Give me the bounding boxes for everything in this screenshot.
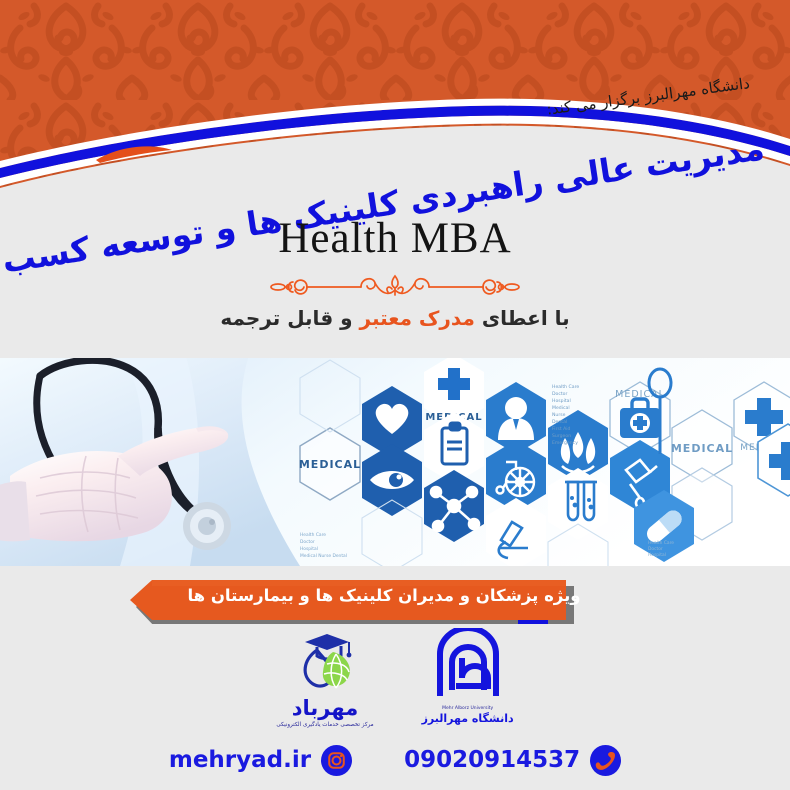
graduation-cap-leaf-globe-icon bbox=[279, 628, 371, 690]
website-text[interactable]: mehryad.ir bbox=[169, 747, 311, 773]
mehralborz-logo-subtitle: Mehr Alborz University bbox=[422, 706, 514, 711]
footer: mehryad.ir 09020914537 bbox=[0, 740, 790, 780]
subtitle-highlight: مدرک معتبر bbox=[360, 306, 475, 330]
svg-text:Surgeon: Surgeon bbox=[552, 433, 571, 439]
svg-text:Medical Nurse Dental: Medical Nurse Dental bbox=[300, 553, 347, 559]
mehralborz-logo-name: دانشگاه مهرالبرز bbox=[422, 712, 514, 725]
svg-text:MEDICAL: MEDICAL bbox=[299, 458, 361, 471]
website-item[interactable]: mehryad.ir bbox=[169, 745, 352, 776]
mehryad-logo-subtitle: مرکز تخصصی خدمات یادگیری الکترونیکی bbox=[276, 722, 373, 728]
hero-image: MEDICAL MEDICAL bbox=[0, 358, 790, 566]
svg-text:Health Care: Health Care bbox=[648, 540, 674, 546]
instagram-icon[interactable] bbox=[321, 745, 352, 776]
svg-text:Doctor: Doctor bbox=[552, 391, 567, 397]
ribbon-shape bbox=[0, 576, 790, 624]
subtitle-after: و قابل ترجمه bbox=[220, 306, 359, 330]
mehryad-logo-name: مهرباد bbox=[276, 696, 373, 720]
logo-row: مهرباد مرکز تخصصی خدمات یادگیری الکترونی… bbox=[0, 628, 790, 736]
page-title-en: Health MBA bbox=[0, 214, 790, 263]
subtitle-before: با اعطای bbox=[475, 306, 570, 330]
svg-text:Doctor: Doctor bbox=[648, 546, 663, 552]
svg-text:Nurse: Nurse bbox=[552, 412, 566, 418]
flourish-divider-icon bbox=[245, 272, 545, 302]
phone-item[interactable]: 09020914537 bbox=[404, 745, 621, 776]
mehryad-logo[interactable]: مهرباد مرکز تخصصی خدمات یادگیری الکترونی… bbox=[276, 628, 373, 728]
svg-text:Doctor: Doctor bbox=[300, 539, 315, 545]
svg-text:Medical: Medical bbox=[552, 405, 570, 411]
audience-ribbon bbox=[0, 576, 790, 624]
svg-text:MEDICAL: MEDICAL bbox=[671, 442, 733, 455]
svg-text:First Aid: First Aid bbox=[552, 426, 571, 432]
flourish-divider bbox=[0, 272, 790, 302]
phone-text[interactable]: 09020914537 bbox=[404, 747, 580, 773]
svg-text:Health Care: Health Care bbox=[300, 532, 326, 538]
hero-illustration: MEDICAL MEDICAL bbox=[0, 358, 790, 566]
svg-text:MEDICAL: MEDICAL bbox=[615, 389, 665, 400]
svg-text:Dental: Dental bbox=[552, 419, 567, 425]
svg-text:Emergency: Emergency bbox=[552, 440, 578, 446]
svg-text:Hospital: Hospital bbox=[300, 546, 318, 552]
mehralborz-logo[interactable]: Mehr Alborz University دانشگاه مهرالبرز bbox=[422, 628, 514, 725]
svg-text:Hospital: Hospital bbox=[648, 552, 666, 558]
mehralborz-monogram-icon bbox=[432, 628, 504, 702]
subtitle: با اعطای مدرک معتبر و قابل ترجمه bbox=[0, 306, 790, 330]
poster-root: دانشگاه مهرالبرز برگزار می کند: مدیریت ع… bbox=[0, 0, 790, 790]
phone-icon[interactable] bbox=[590, 745, 621, 776]
svg-text:Health Care: Health Care bbox=[552, 384, 579, 390]
svg-text:Hospital: Hospital bbox=[552, 398, 571, 404]
